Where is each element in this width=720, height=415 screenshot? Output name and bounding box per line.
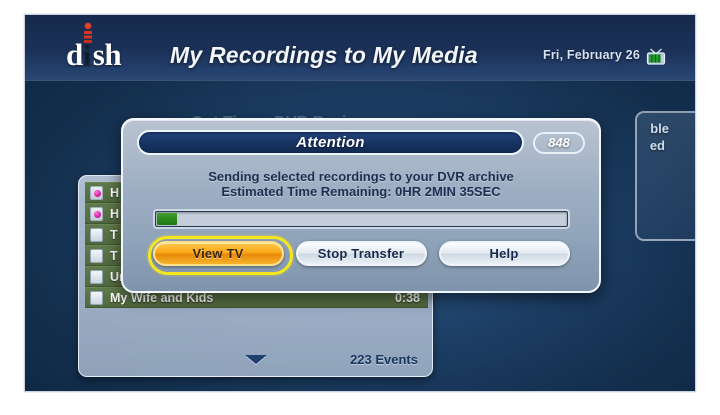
- status-badge: 848: [533, 132, 585, 154]
- dialog-titlebar: Attention 848: [137, 130, 585, 155]
- logo-d: d: [66, 39, 83, 70]
- transfer-progress-bar: [155, 211, 568, 227]
- tv-icon: [646, 48, 666, 65]
- events-count: 223 Events: [350, 352, 418, 367]
- dialog-message-line-1: Sending selected recordings to your DVR …: [137, 169, 585, 184]
- page-icon: [90, 291, 103, 305]
- stop-transfer-button[interactable]: Stop Transfer: [296, 241, 427, 266]
- list-footer: 223 Events: [85, 349, 426, 370]
- dish-logo: dish: [66, 39, 121, 70]
- view-tv-button-label: View TV: [192, 246, 243, 261]
- pink-dot-icon: [90, 186, 103, 200]
- logo-i-satellite-icon: i: [83, 39, 93, 70]
- help-button-label: Help: [490, 246, 519, 261]
- progress-fill: [157, 213, 177, 225]
- page-title: My Recordings to My Media: [170, 42, 478, 69]
- pink-dot-icon: [90, 207, 103, 221]
- background-fragment-ed: ed: [650, 138, 665, 153]
- dialog-title: Attention: [137, 130, 524, 155]
- dialog-button-row: View TV Stop Transfer Help: [137, 241, 585, 266]
- tv-content-frame: dish My Recordings to My Media Fri, Febr…: [24, 14, 696, 392]
- dialog-message: Sending selected recordings to your DVR …: [137, 169, 585, 199]
- page-icon: [90, 249, 103, 263]
- logo-sh: sh: [93, 39, 121, 70]
- page-icon: [90, 228, 103, 242]
- app-header: dish My Recordings to My Media Fri, Febr…: [25, 15, 695, 81]
- help-button[interactable]: Help: [439, 241, 570, 266]
- chevron-down-icon[interactable]: [245, 355, 267, 364]
- header-date: Fri, February 26: [543, 48, 640, 62]
- view-tv-button[interactable]: View TV: [153, 241, 284, 266]
- page-icon: [90, 270, 103, 284]
- attention-dialog: Attention 848 Sending selected recording…: [121, 118, 601, 293]
- dialog-message-line-2: Estimated Time Remaining: 0HR 2MIN 35SEC: [137, 184, 585, 199]
- background-fragment-ble: ble: [650, 121, 669, 136]
- screen-root: dish My Recordings to My Media Fri, Febr…: [0, 0, 720, 415]
- stop-transfer-button-label: Stop Transfer: [318, 246, 404, 261]
